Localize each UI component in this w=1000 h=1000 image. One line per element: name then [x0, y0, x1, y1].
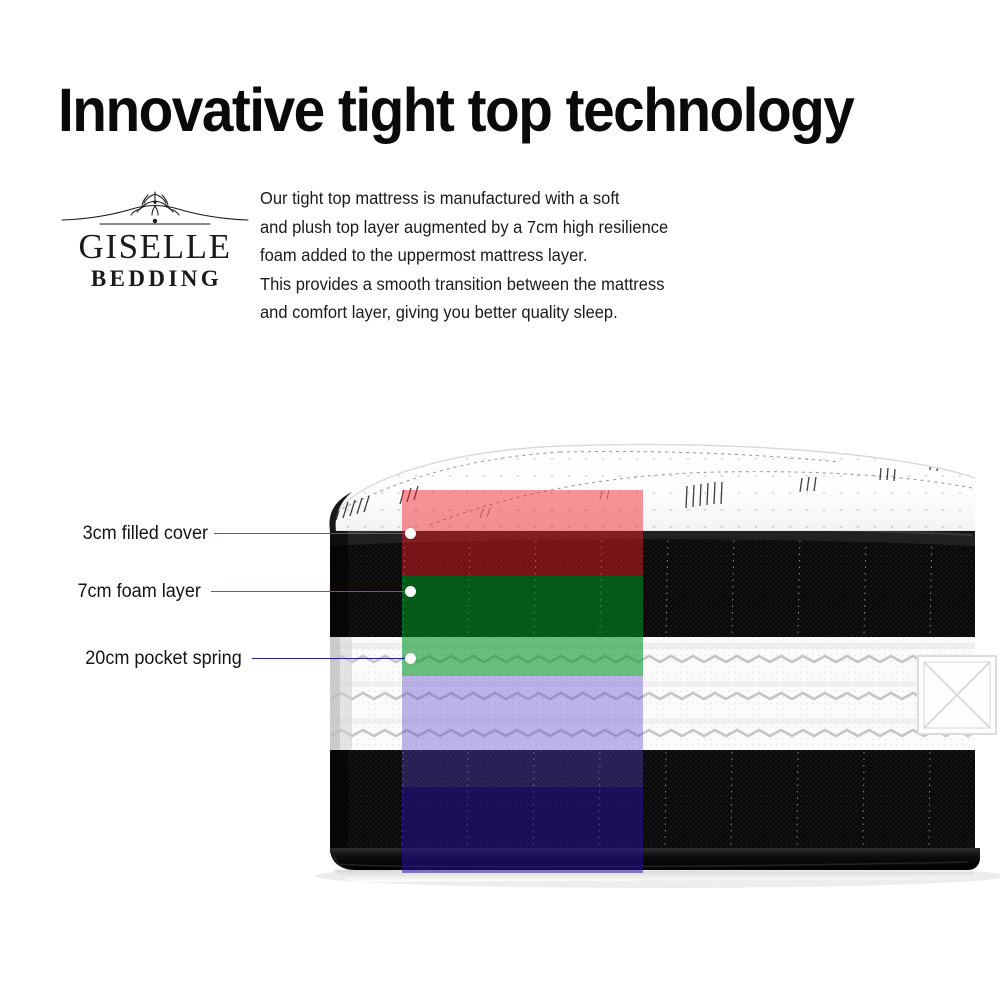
- description-line: and plush top layer augmented by a 7cm h…: [260, 213, 721, 242]
- overlay-pocket-spring-upper: [402, 676, 643, 787]
- description-line: and comfort layer, giving you better qua…: [260, 298, 721, 327]
- crown-ornament-icon: [60, 188, 250, 230]
- callout-foam-layer: 7cm foam layer: [40, 580, 201, 604]
- callout-dot-foam-layer: [405, 586, 416, 597]
- brand-logo: GISELLE BEDDING: [60, 188, 250, 292]
- overlay-foam-layer: [402, 576, 643, 676]
- leader-line-filled-cover: [214, 533, 412, 534]
- callout-dot-filled-cover: [405, 528, 416, 539]
- description-line: This provides a smooth transition betwee…: [260, 270, 721, 299]
- overlay-pocket-spring-lower: [402, 787, 643, 873]
- description-block: Our tight top mattress is manufactured w…: [260, 184, 721, 327]
- overlay-filled-cover-border: [402, 542, 643, 576]
- callout-dot-pocket-spring: [405, 653, 416, 664]
- callout-label: 3cm filled cover: [83, 522, 208, 546]
- leader-line-foam-layer: [211, 591, 412, 592]
- callout-filled-cover: 3cm filled cover: [40, 522, 208, 546]
- description-line: Our tight top mattress is manufactured w…: [260, 184, 721, 213]
- description-line: foam added to the uppermost mattress lay…: [260, 241, 721, 270]
- callout-label: 7cm foam layer: [78, 580, 201, 604]
- overlay-filled-cover-top: [402, 490, 643, 542]
- callout-pocket-spring: 20cm pocket spring: [40, 647, 242, 671]
- leader-line-pocket-spring: [252, 658, 412, 659]
- callout-label: 20cm pocket spring: [85, 647, 242, 671]
- infographic-page: Innovative tight top technology: [0, 0, 1000, 1000]
- brand-name: GISELLE: [60, 228, 250, 265]
- page-title: Innovative tight top technology: [58, 78, 904, 142]
- brand-subtitle: BEDDING: [60, 265, 250, 292]
- mattress-handle-icon: [918, 656, 996, 734]
